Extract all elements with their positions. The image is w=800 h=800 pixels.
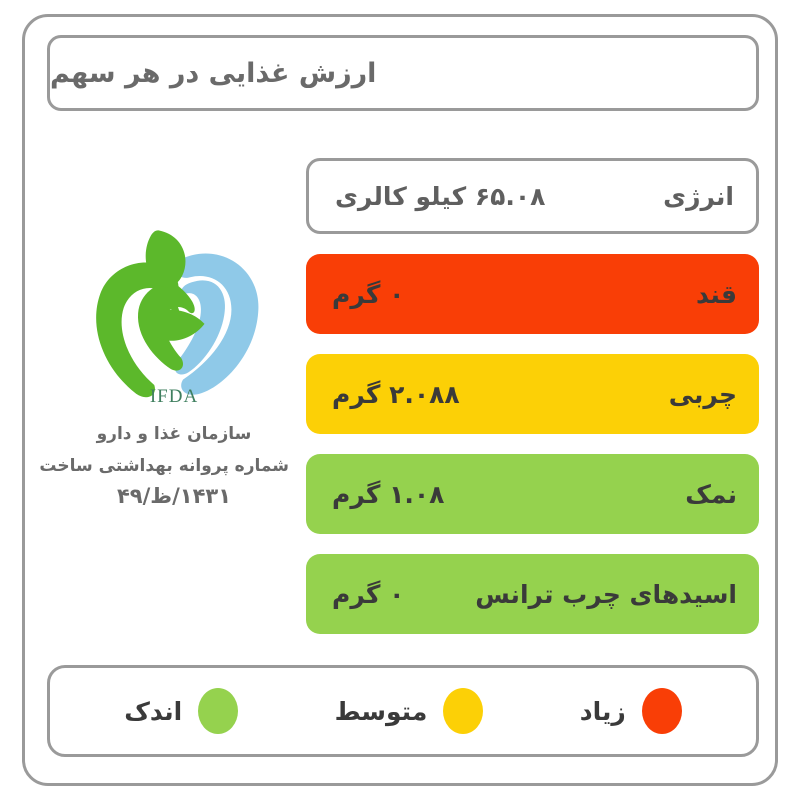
legend-label-high: زیاد (580, 697, 626, 726)
nutrient-row-energy: انرژی ۶۵.۰۸ کیلو کالری (306, 158, 759, 234)
organization-name: سازمان غذا و دارو (59, 424, 289, 444)
nutrient-row-salt: نمک ۱.۰۸ گرم (306, 454, 759, 534)
legend-dot-low-icon (198, 688, 238, 734)
nutrient-value-energy: ۶۵.۰۸ کیلو کالری (335, 182, 545, 211)
legend-item-medium: متوسط (335, 688, 484, 734)
nutrient-rows: انرژی ۶۵.۰۸ کیلو کالری قند ۰ گرم چربی ۲.… (306, 158, 759, 654)
nutrient-label-salt: نمک (685, 480, 737, 509)
nutrient-value-salt: ۱.۰۸ گرم (332, 480, 444, 509)
nutrient-label-energy: انرژی (663, 182, 734, 211)
nutrient-label-sugar: قند (696, 280, 737, 309)
nutrition-label-card: ارزش غذایی در هر سهم IFDA سازمان غذا و د… (22, 14, 778, 786)
ifda-apple-logo-icon (84, 227, 264, 402)
nutrient-value-trans-fat: ۰ گرم (332, 580, 404, 609)
legend-label-medium: متوسط (335, 697, 428, 726)
nutrient-row-fat: چربی ۲.۰۸۸ گرم (306, 354, 759, 434)
nutrient-label-fat: چربی (669, 380, 737, 409)
legend-item-high: زیاد (580, 688, 682, 734)
nutrient-value-sugar: ۰ گرم (332, 280, 404, 309)
nutrient-value-fat: ۲.۰۸۸ گرم (332, 380, 460, 409)
legend-box: اندک متوسط زیاد (47, 665, 759, 757)
nutrient-row-sugar: قند ۰ گرم (306, 254, 759, 334)
page-title: ارزش غذایی در هر سهم (50, 58, 398, 89)
legend-item-low: اندک (124, 688, 238, 734)
legend-dot-medium-icon (443, 688, 483, 734)
legend-dot-high-icon (642, 688, 682, 734)
ifda-wordmark: IFDA (59, 386, 289, 408)
ifda-logo-block: IFDA سازمان غذا و دارو شماره پروانه بهدا… (59, 227, 289, 508)
license-number: ۱۴۳۱/ظ/۴۹ (59, 484, 289, 508)
nutrient-label-trans-fat: اسیدهای چرب ترانس (475, 580, 737, 609)
legend-label-low: اندک (124, 697, 182, 726)
nutrition-title-box: ارزش غذایی در هر سهم (47, 35, 759, 111)
nutrient-row-trans-fat: اسیدهای چرب ترانس ۰ گرم (306, 554, 759, 634)
license-label: شماره پروانه بهداشتی ساخت (59, 456, 289, 476)
